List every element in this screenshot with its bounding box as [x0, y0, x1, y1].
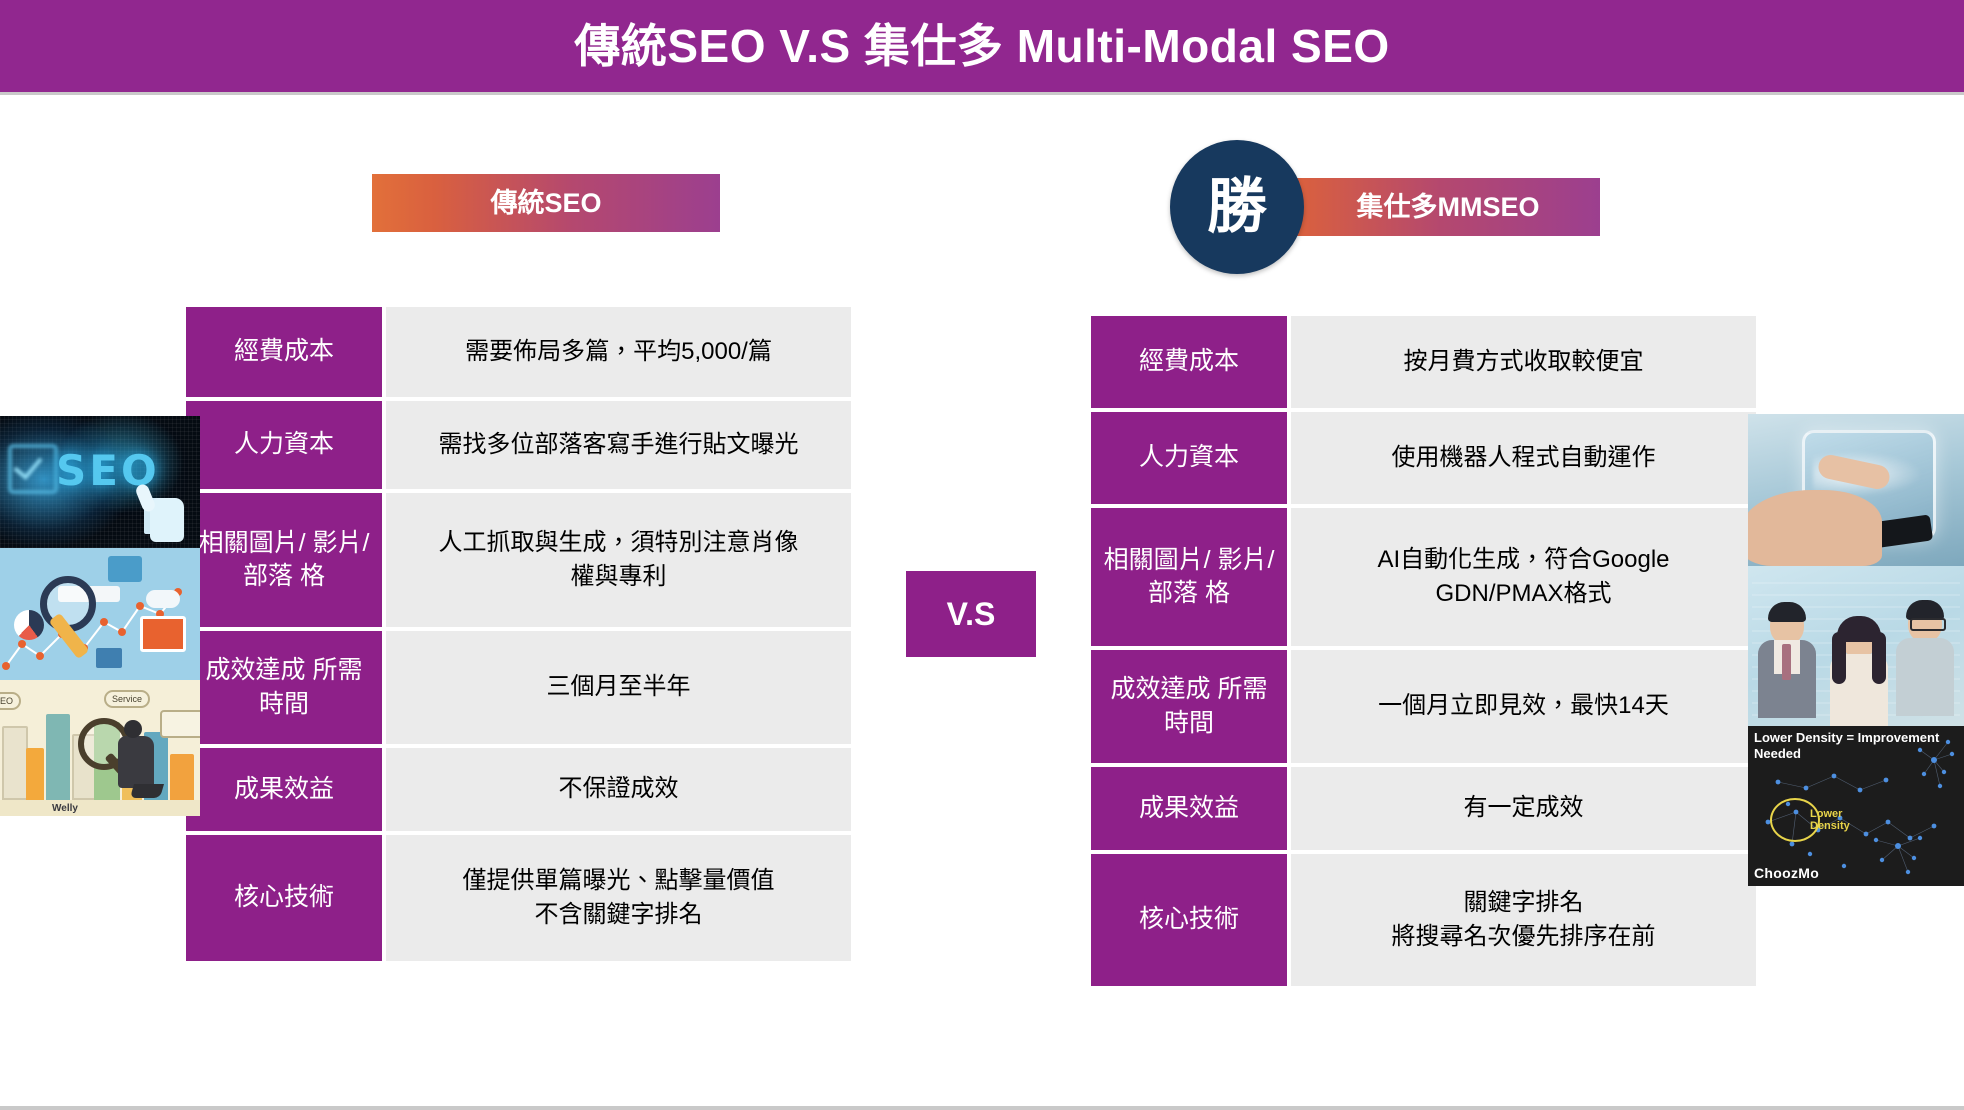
row-value: 需找多位部落客寫手進行貼文曝光 [386, 401, 851, 489]
person-shape [1908, 604, 1942, 642]
bar-chart-icon [140, 616, 186, 652]
column-banner-traditional-label: 傳統SEO [490, 190, 601, 217]
row-value: 三個月至半年 [386, 631, 851, 744]
network-graph-title: Lower Density = Improvement Needed [1754, 730, 1954, 761]
necktie-shape [1782, 644, 1791, 680]
table-row: 人力資本 使用機器人程式自動運作 [1091, 412, 1756, 508]
folder-icon [96, 648, 122, 668]
row-value: 有一定成效 [1291, 767, 1756, 850]
business-people-illustration [1748, 566, 1964, 726]
comparison-table-traditional: 經費成本 需要佈局多篇，平均5,000/篇 人力資本 需找多位部落客寫手進行貼文… [186, 307, 851, 961]
note-card-shape [160, 710, 200, 738]
row-key: 經費成本 [186, 307, 386, 397]
versus-chip-label: V.S [947, 598, 996, 630]
row-value: 按月費方式收取較便宜 [1291, 316, 1756, 408]
building-shape [46, 714, 70, 800]
row-value: 僅提供單篇曝光、點擊量價值 不含關鍵字排名 [386, 835, 851, 961]
table-row: 核心技術 僅提供單篇曝光、點擊量價值 不含關鍵字排名 [186, 835, 851, 961]
row-key: 人力資本 [186, 401, 386, 489]
winner-badge-label: 勝 [1207, 177, 1267, 237]
person-body-shape [1896, 638, 1954, 716]
table-row: 相關圖片/ 影片/部落 格 AI自動化生成，符合Google GDN/PMAX格… [1091, 508, 1756, 650]
person-hair-shape [1832, 632, 1846, 684]
row-key: 經費成本 [1091, 316, 1291, 408]
versus-chip: V.S [906, 571, 1036, 657]
person-shape [118, 736, 154, 788]
seo-neon-photo: SEO [0, 416, 200, 548]
welly-watermark: Welly [52, 803, 78, 814]
table-row: 人力資本 需找多位部落客寫手進行貼文曝光 [186, 401, 851, 493]
table-row: 成效達成 所需時間 一個月立即見效，最快14天 [1091, 650, 1756, 767]
row-value: 關鍵字排名 將搜尋名次優先排序在前 [1291, 854, 1756, 986]
column-banner-mmseo-label: 集仕多MMSEO [1356, 194, 1539, 221]
speech-bubble-seo: EO [0, 692, 21, 710]
ground-band [0, 800, 200, 816]
row-value: 一個月立即見效，最快14天 [1291, 650, 1756, 763]
table-row: 成效達成 所需時間 三個月至半年 [186, 631, 851, 748]
table-row: 成果效益 不保證成效 [186, 748, 851, 835]
title-divider [0, 92, 1964, 95]
eyeglasses-icon [1910, 618, 1946, 631]
hologram-phone-photo [1748, 414, 1964, 566]
winner-badge: 勝 [1170, 140, 1304, 274]
pointing-hand-icon [150, 498, 184, 542]
checkbox-icon [8, 444, 58, 494]
page-title: 傳統SEO V.S 集仕多 Multi-Modal SEO [574, 23, 1389, 69]
row-key: 核心技術 [1091, 854, 1291, 986]
slide-title-bar: 傳統SEO V.S 集仕多 Multi-Modal SEO [0, 0, 1964, 92]
pie-chart-icon [14, 610, 44, 640]
row-key: 成果效益 [186, 748, 386, 831]
row-key: 成果效益 [1091, 767, 1291, 850]
choozmo-logo: ChoozMo [1754, 865, 1819, 881]
table-row: 經費成本 按月費方式收取較便宜 [1091, 316, 1756, 412]
table-row: 核心技術 關鍵字排名 將搜尋名次優先排序在前 [1091, 854, 1756, 986]
speech-bubble-service: Service [104, 690, 150, 708]
table-row: 相關圖片/ 影片/部落 格 人工抓取與生成，須特別注意肖像 權與專利 [186, 493, 851, 631]
bottom-divider [0, 1106, 1964, 1110]
row-key: 人力資本 [1091, 412, 1291, 504]
row-value: 使用機器人程式自動運作 [1291, 412, 1756, 504]
hand-shape [1748, 490, 1882, 566]
person-hair-shape [1872, 632, 1886, 684]
row-value: 不保證成效 [386, 748, 851, 831]
building-shape [170, 754, 194, 800]
lower-density-annotation: Lower Density [1810, 808, 1850, 832]
row-key: 相關圖片/ 影片/部落 格 [1091, 508, 1291, 646]
network-density-graph: Lower Density = Improvement Needed Lower… [1748, 726, 1964, 886]
row-key: 成效達成 所需時間 [186, 631, 386, 744]
left-image-strip: SEO [0, 416, 200, 816]
row-key: 核心技術 [186, 835, 386, 961]
person-hair-shape [1906, 600, 1944, 620]
building-shape [2, 726, 28, 800]
slide-root: 傳統SEO V.S 集仕多 Multi-Modal SEO 傳統SEO 集仕多M… [0, 0, 1964, 1110]
person-shape [1842, 620, 1876, 658]
row-value: AI自動化生成，符合Google GDN/PMAX格式 [1291, 508, 1756, 646]
row-key: 相關圖片/ 影片/部落 格 [186, 493, 386, 627]
table-row: 經費成本 需要佈局多篇，平均5,000/篇 [186, 307, 851, 401]
person-shape [1770, 606, 1804, 644]
analytics-illustration [0, 548, 200, 680]
person-head-shape [124, 720, 142, 738]
person-leg-shape [130, 784, 164, 798]
row-value: 人工抓取與生成，須特別注意肖像 權與專利 [386, 493, 851, 627]
row-value: 需要佈局多篇，平均5,000/篇 [386, 307, 851, 397]
person-hair-shape [1768, 602, 1806, 622]
cloud-icon [146, 590, 180, 608]
column-banner-traditional: 傳統SEO [372, 174, 720, 232]
comparison-table-mmseo: 經費成本 按月費方式收取較便宜 人力資本 使用機器人程式自動運作 相關圖片/ 影… [1091, 316, 1756, 986]
right-image-strip: Lower Density = Improvement Needed Lower… [1748, 414, 1964, 886]
city-magnifier-illustration: EO Service Welly [0, 680, 200, 816]
chart-card-icon [108, 556, 142, 582]
row-key: 成效達成 所需時間 [1091, 650, 1291, 763]
building-shape [26, 748, 44, 800]
table-row: 成果效益 有一定成效 [1091, 767, 1756, 854]
